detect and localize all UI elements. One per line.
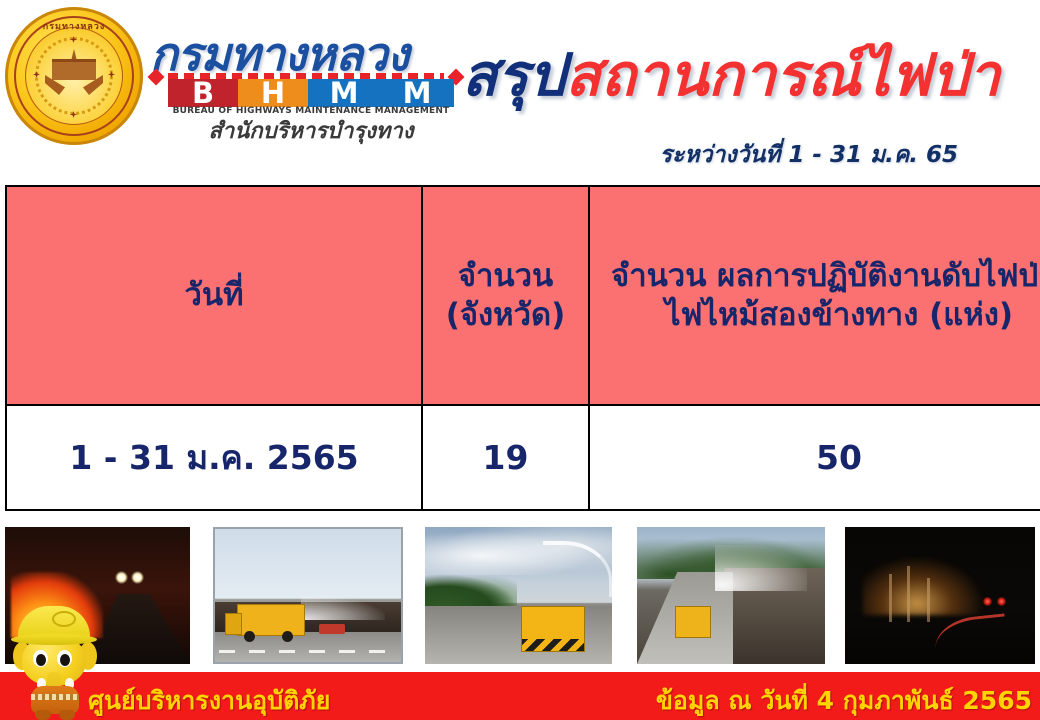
photo-3-fire-truck (521, 606, 585, 652)
photo-1-road (89, 594, 190, 664)
photo-strip (0, 527, 1040, 667)
mascot-leg-left (35, 710, 51, 720)
page-title-main: สถานการณ์ไฟป่า (565, 41, 1000, 109)
bhmm-letter-b: B (168, 79, 238, 107)
column-header-operations: จำนวน ผลการปฏิบัติงานดับไฟป่า/ ไฟไหม้สอง… (589, 186, 1040, 405)
photo-5-tree-trunk-1 (889, 574, 892, 622)
bhmm-thai-subtitle: สำนักบริหารบำรุงทาง (168, 113, 454, 148)
infographic-page: กรมทางหลวง กรมทางหลวง B H M M BUREAU OF … (0, 0, 1040, 720)
footer-organization-label: ศูนย์บริหารงานอุบัติภัย (88, 681, 330, 720)
photo-3-truck-hazard-stripe (522, 639, 584, 651)
summary-table: วันที่ จำนวน (จังหวัด) จำนวน ผลการปฏิบัต… (5, 185, 1040, 511)
photo-roadside-slope-watering (637, 527, 825, 664)
photo-5-fire-glow (863, 557, 983, 615)
page-title: สรุปสถานการณ์ไฟป่า (462, 28, 1000, 121)
photo-2-truck-wheel-rear (282, 631, 293, 642)
department-seal-icon: กรมทางหลวง (5, 7, 143, 145)
photo-3-scene (425, 527, 612, 664)
mascot-leg-right (59, 710, 75, 720)
photo-1-headlight-right (131, 571, 144, 584)
mascot-pupil-right (60, 654, 70, 666)
photo-truck-spraying-burnt-roadside (213, 527, 403, 664)
bhmm-letter-h: H (238, 79, 308, 107)
page-title-prefix: สรุป (462, 41, 565, 109)
photo-2-truck-wheel-front (244, 631, 255, 642)
footer-bar: ศูนย์บริหารงานอุบัติภัย ข้อมูล ณ วันที่ … (0, 672, 1040, 720)
table-header-row: วันที่ จำนวน (จังหวัด) จำนวน ผลการปฏิบัต… (6, 186, 1040, 405)
bhmm-logo: B H M M (168, 79, 454, 107)
column-header-provinces-line2: (จังหวัด) (431, 296, 580, 335)
seal-text: กรมทางหลวง (5, 19, 143, 33)
photo-5-scene (845, 527, 1035, 664)
photo-5-taillight-left (983, 597, 992, 606)
photo-2-water-truck (237, 604, 305, 636)
photo-night-forest-fire-truck (845, 527, 1035, 664)
photo-5-tree-trunk-2 (907, 566, 910, 622)
seal-pavilion-emblem (44, 53, 104, 99)
column-header-date: วันที่ (6, 186, 422, 405)
mascot-hardhat-brim (11, 634, 97, 645)
photo-4-scene (637, 527, 825, 664)
cell-operations: 50 (589, 405, 1040, 510)
photo-2-red-vehicle (319, 624, 345, 634)
table-row: 1 - 31 ม.ค. 2565 19 50 (6, 405, 1040, 510)
photo-5-fire-hose (933, 613, 1010, 664)
cell-provinces: 19 (422, 405, 589, 510)
bhmm-letter-m1: M (308, 79, 380, 107)
photo-5-taillight-right (997, 597, 1006, 606)
bhmm-letter-m2: M (380, 79, 454, 107)
photo-4-water-truck (675, 606, 711, 638)
footer-data-date-label: ข้อมูล ณ วันที่ 4 กุมภาพันธ์ 2565 (656, 681, 1032, 720)
photo-yellow-truck-water-arc (425, 527, 612, 664)
mascot-hardhat-badge (52, 611, 76, 627)
photo-2-truck-cab (225, 613, 242, 635)
cell-date: 1 - 31 ม.ค. 2565 (6, 405, 422, 510)
header-banner: กรมทางหลวง กรมทางหลวง B H M M BUREAU OF … (0, 0, 1040, 178)
mascot-belt (31, 694, 79, 700)
photo-5-tree-trunk-3 (927, 578, 930, 622)
column-header-operations-line2: ไฟไหม้สองข้างทาง (แห่ง) (598, 296, 1040, 335)
photo-2-lane-marking (219, 650, 399, 653)
date-range-subtitle: ระหว่างวันที่ 1 - 31 ม.ค. 65 (660, 137, 958, 173)
column-header-operations-line1: จำนวน ผลการปฏิบัติงานดับไฟป่า/ (598, 257, 1040, 296)
column-header-provinces: จำนวน (จังหวัด) (422, 186, 589, 405)
mascot-pupil-left (36, 654, 46, 666)
photo-1-headlight-left (115, 571, 128, 584)
photo-2-scene (215, 529, 401, 662)
column-header-provinces-line1: จำนวน (431, 257, 580, 296)
seal-pavilion (52, 59, 96, 80)
photo-2-water-spray (301, 596, 385, 620)
elephant-mascot-icon (9, 606, 101, 718)
photo-4-water-spray (715, 545, 807, 591)
photo-2-asphalt (215, 632, 401, 662)
